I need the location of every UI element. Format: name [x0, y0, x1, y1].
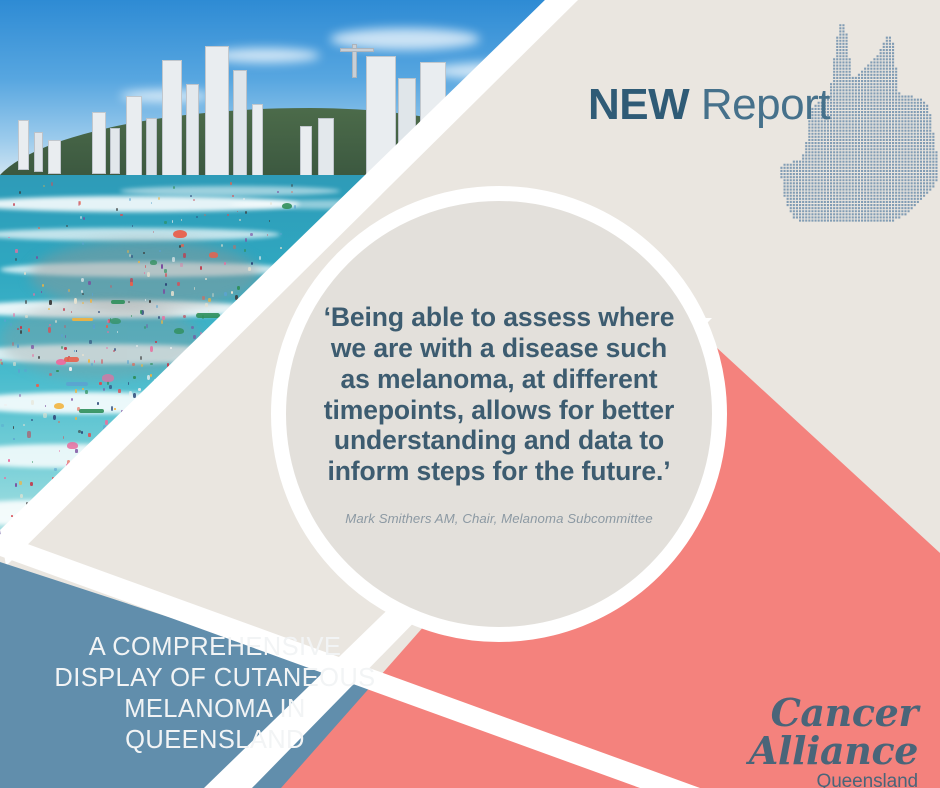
surf: [120, 186, 340, 196]
new-label: NEW: [588, 80, 689, 129]
logo-primary-text: Cancer Alliance: [632, 694, 918, 770]
quote-text: ‘Being able to assess wherewe are with a…: [324, 302, 675, 486]
building: [186, 84, 199, 176]
building: [300, 126, 312, 178]
building: [34, 132, 43, 172]
building: [126, 96, 142, 176]
logo-secondary-text: Queensland: [632, 772, 918, 788]
building: [318, 118, 334, 178]
building: [162, 60, 182, 176]
building: [18, 120, 29, 170]
quote-attribution: Mark Smithers AM, Chair, Melanoma Subcom…: [345, 511, 653, 526]
building: [92, 112, 106, 174]
new-report-heading: NEW Report: [588, 80, 830, 130]
page-title: A COMPREHENSIVEDISPLAY OF CUTANEOUSMELAN…: [0, 632, 430, 756]
building: [252, 104, 263, 176]
crane-arm: [340, 48, 374, 52]
report-label: Report: [689, 80, 830, 129]
building: [205, 46, 229, 176]
building: [110, 128, 120, 174]
building: [48, 140, 61, 174]
building: [146, 118, 157, 176]
building: [233, 70, 247, 176]
quote-circle: ‘Being able to assess wherewe are with a…: [271, 186, 727, 642]
cancer-alliance-logo: Cancer Alliance Queensland: [632, 694, 918, 788]
poster-canvas: NEW Report ‘Being able to assess wherewe…: [0, 0, 940, 788]
